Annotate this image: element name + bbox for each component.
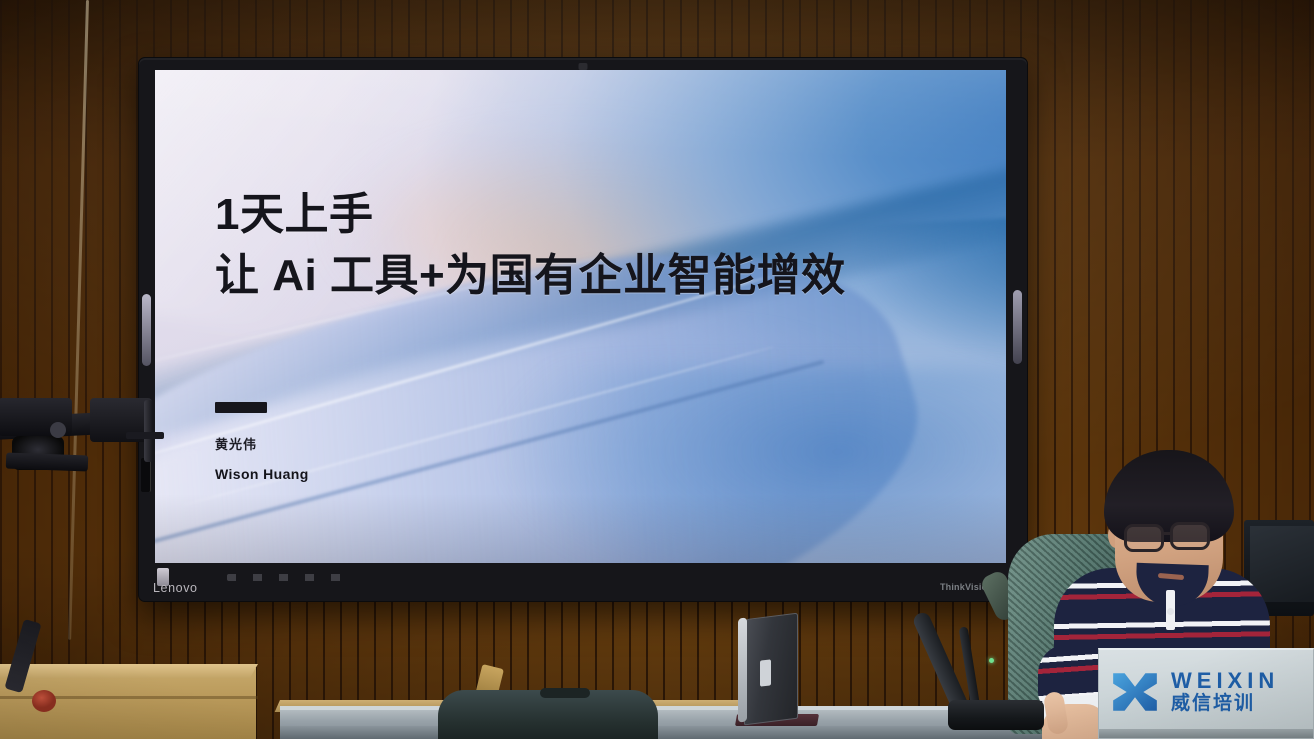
- slide-headline-line2: 让 Ai 工具+为国有企业智能增效: [215, 249, 846, 304]
- conference-room-scene: 1天上手 让 Ai 工具+为国有企业智能增效 黄光伟 Wison Huang L…: [0, 0, 1314, 739]
- banner-text-en: WEIXIN: [1171, 669, 1279, 692]
- shirt-button: [1167, 608, 1174, 615]
- microphone-status-led: [989, 658, 994, 663]
- backpack-strap: [540, 688, 590, 698]
- brand-logo-lenovo: Lenovo: [153, 581, 198, 595]
- slide-headline-line1: 1天上手: [215, 188, 846, 243]
- display-bottom-bezel: Lenovo ThinkVision: [139, 563, 1027, 601]
- laptop[interactable]: [744, 613, 798, 726]
- red-mic-windscreen: [32, 690, 56, 712]
- laptop-label: [760, 659, 771, 686]
- presenter-name-en: Wison Huang: [215, 466, 309, 482]
- display-screen[interactable]: 1天上手 让 Ai 工具+为国有企业智能增效 黄光伟 Wison Huang: [155, 70, 1006, 563]
- bezel-reflection-right: [1013, 290, 1022, 364]
- rig-adjust-knob[interactable]: [50, 422, 66, 438]
- weixin-w-logo-icon: [1109, 666, 1161, 718]
- laptop-lid-edge: [738, 617, 747, 722]
- slide-divider-rule: [215, 402, 267, 413]
- rig-mount-bar: [144, 400, 153, 462]
- banner-content: WEIXIN 威信培训: [1109, 656, 1313, 728]
- banner-base: [1099, 729, 1313, 738]
- presentation-slide: 1天上手 让 Ai 工具+为国有企业智能增效 黄光伟 Wison Huang: [155, 70, 1006, 563]
- wall-mounted-display[interactable]: 1天上手 让 Ai 工具+为国有企业智能增效 黄光伟 Wison Huang L…: [138, 57, 1028, 602]
- eyeglasses-lens-left: [1124, 524, 1164, 552]
- microphone-base[interactable]: [948, 700, 1044, 730]
- presenter-name-cn: 黄光伟: [215, 434, 309, 453]
- weixin-banner: WEIXIN 威信培训: [1098, 648, 1314, 739]
- bezel-reflection-left: [142, 294, 151, 366]
- banner-text-cn: 威信培训: [1171, 694, 1279, 715]
- camera-rig: [0, 392, 166, 500]
- slide-presenter-byline: 黄光伟 Wison Huang: [215, 434, 309, 482]
- hair: [1104, 450, 1234, 542]
- slide-blue-pool: [325, 366, 1006, 563]
- slide-headline-block: 1天上手 让 Ai 工具+为国有企业智能增效: [215, 188, 846, 303]
- banner-text-block: WEIXIN 威信培训: [1171, 669, 1279, 715]
- podium-top-surface: [0, 664, 258, 678]
- eyeglasses-bridge: [1163, 532, 1172, 535]
- rig-cross-bar: [126, 432, 164, 439]
- webcam-icon: [579, 63, 588, 70]
- eyeglasses-lens-right: [1170, 522, 1210, 550]
- display-control-buttons[interactable]: [227, 574, 345, 581]
- rig-post: [6, 453, 89, 472]
